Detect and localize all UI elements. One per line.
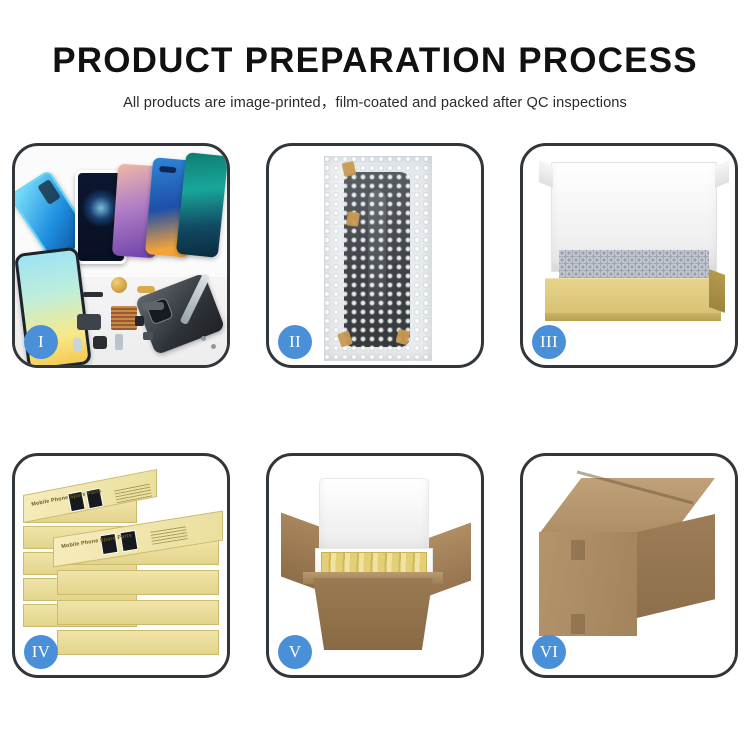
carton-tape-icon xyxy=(571,540,585,560)
process-step-grid: I II III xyxy=(12,143,738,678)
flex-cable-icon xyxy=(83,292,103,297)
step-panel-6[interactable]: VI xyxy=(520,453,738,678)
stacked-box xyxy=(57,600,219,625)
step-panel-5[interactable]: V xyxy=(266,453,484,678)
step-panel-3[interactable]: III xyxy=(520,143,738,368)
step-panel-2[interactable]: II xyxy=(266,143,484,368)
step-badge-2: II xyxy=(278,325,312,359)
yellow-box-front-icon xyxy=(545,278,721,313)
sim-tray-icon xyxy=(73,338,81,352)
ribbon-cable-icon xyxy=(142,302,164,310)
bubble-padding-icon xyxy=(559,250,709,280)
carton-side-face-icon xyxy=(637,514,715,618)
stacked-box xyxy=(57,570,219,595)
step-badge-6: VI xyxy=(532,635,566,669)
box-stack: Mobile Phone Spare Parts Mobile Phone Sp… xyxy=(23,478,227,668)
step-badge-5: V xyxy=(278,635,312,669)
step-panel-1[interactable]: I xyxy=(12,143,230,368)
bracket-icon xyxy=(77,314,101,330)
yellow-box-side-icon xyxy=(709,269,725,313)
gold-connector-icon xyxy=(137,286,155,293)
button-part-icon xyxy=(143,332,153,340)
small-board-icon xyxy=(115,334,123,350)
step-badge-1: I xyxy=(24,325,58,359)
step-panel-4[interactable]: Mobile Phone Spare Parts Mobile Phone Sp… xyxy=(12,453,230,678)
tape-piece-icon xyxy=(346,211,360,227)
step-badge-3: III xyxy=(532,325,566,359)
stacked-box xyxy=(57,630,219,655)
screw-icon xyxy=(211,344,216,349)
page-header: PRODUCT PREPARATION PROCESS All products… xyxy=(0,0,750,112)
carton-body-icon xyxy=(305,578,441,650)
speaker-module-icon xyxy=(111,277,127,293)
carton-front-face-icon xyxy=(539,532,637,636)
bubble-texture xyxy=(324,156,432,361)
tape-piece-icon xyxy=(342,161,357,177)
chip-icon xyxy=(135,316,144,326)
copper-grid-icon xyxy=(111,306,137,330)
screw-icon xyxy=(201,336,206,341)
camera-module-icon xyxy=(93,336,107,349)
page-subtitle: All products are image-printed，film-coat… xyxy=(0,80,750,112)
bubble-wrap-bag-icon xyxy=(324,156,432,361)
step-badge-4: IV xyxy=(24,635,58,669)
carton-tape-icon xyxy=(571,614,585,634)
foam-box-lid-icon xyxy=(319,478,429,556)
page-title: PRODUCT PREPARATION PROCESS xyxy=(0,0,750,80)
